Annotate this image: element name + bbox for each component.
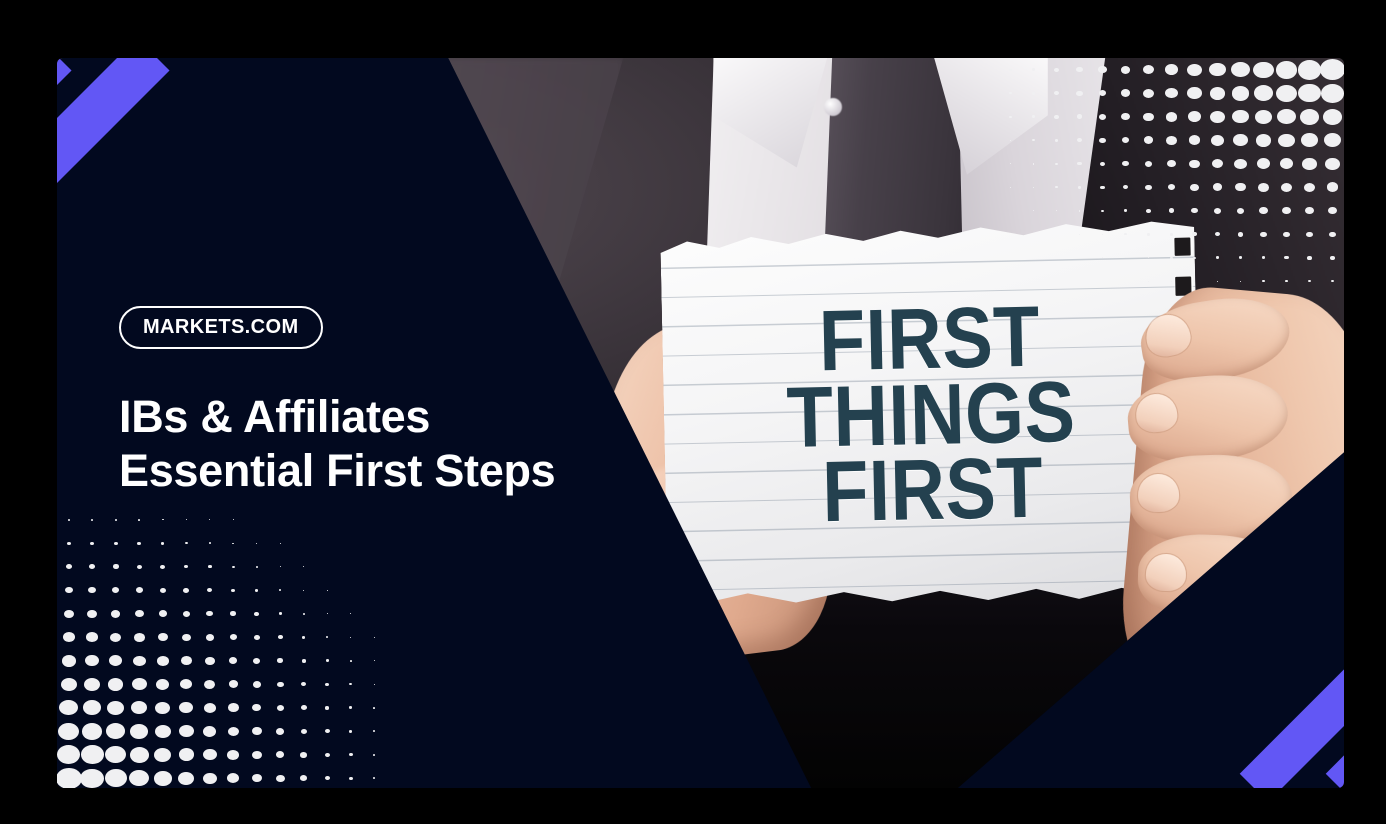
- torn-notepad-sign: FIRST THINGS FIRST: [660, 214, 1202, 616]
- headline-line-1: IBs & Affiliates: [119, 391, 430, 442]
- sign-line-3: FIRST: [822, 453, 1044, 529]
- headline-line-2: Essential First Steps: [119, 444, 555, 498]
- headline: IBs & Affiliates Essential First Steps: [119, 390, 555, 499]
- promo-banner: FIRST THINGS FIRST: [57, 58, 1344, 788]
- sign-message: FIRST THINGS FIRST: [692, 215, 1170, 615]
- brand-badge: MARKETS.COM: [119, 306, 323, 349]
- right-fingernail-little: [1145, 554, 1186, 592]
- tear-tab: [1175, 237, 1192, 256]
- screenshot-stage: FIRST THINGS FIRST: [0, 0, 1386, 824]
